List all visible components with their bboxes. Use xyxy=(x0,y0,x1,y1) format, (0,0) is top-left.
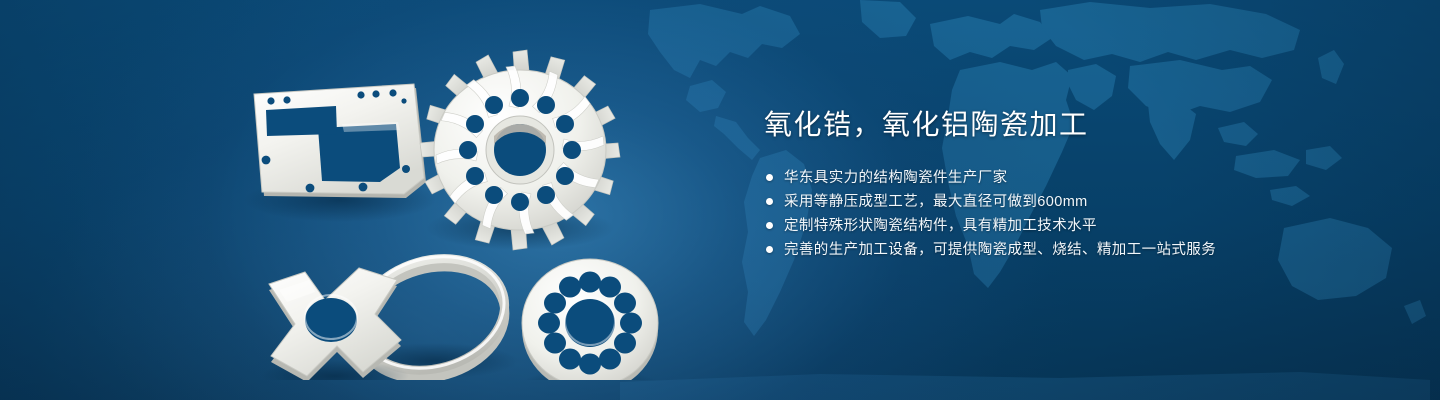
list-item: 华东具实力的结构陶瓷件生产厂家 xyxy=(764,166,1364,190)
feature-text: 完善的生产加工设备，可提供陶瓷成型、烧结、精加工一站式服务 xyxy=(784,238,1216,262)
feature-text: 定制特殊形状陶瓷结构件，具有精加工技术水平 xyxy=(784,214,1097,238)
list-item: 采用等静压成型工艺，最大直径可做到600mm xyxy=(764,190,1364,214)
banner-copy: 氧化锆，氧化铝陶瓷加工 华东具实力的结构陶瓷件生产厂家 采用等静压成型工艺，最大… xyxy=(764,108,1364,278)
page-title: 氧化锆，氧化铝陶瓷加工 xyxy=(764,108,1364,142)
ceramic-impeller xyxy=(420,50,620,250)
ceramic-plate xyxy=(244,84,436,222)
list-bullet-dot xyxy=(766,222,773,229)
feature-text: 采用等静压成型工艺，最大直径可做到600mm xyxy=(784,190,1088,214)
list-bullet-dot xyxy=(766,198,773,205)
feature-list: 华东具实力的结构陶瓷件生产厂家 采用等静压成型工艺，最大直径可做到600mm 定… xyxy=(764,166,1364,262)
ceramic-products-image xyxy=(230,40,700,380)
list-item: 定制特殊形状陶瓷结构件，具有精加工技术水平 xyxy=(764,214,1364,238)
list-bullet-dot xyxy=(766,174,773,181)
ceramic-perforated-disc xyxy=(520,259,660,380)
hero-banner: 氧化锆，氧化铝陶瓷加工 华东具实力的结构陶瓷件生产厂家 采用等静压成型工艺，最大… xyxy=(0,0,1440,400)
feature-text: 华东具实力的结构陶瓷件生产厂家 xyxy=(784,166,1008,190)
list-item: 完善的生产加工设备，可提供陶瓷成型、烧结、精加工一站式服务 xyxy=(764,238,1364,262)
list-bullet-dot xyxy=(766,246,773,253)
